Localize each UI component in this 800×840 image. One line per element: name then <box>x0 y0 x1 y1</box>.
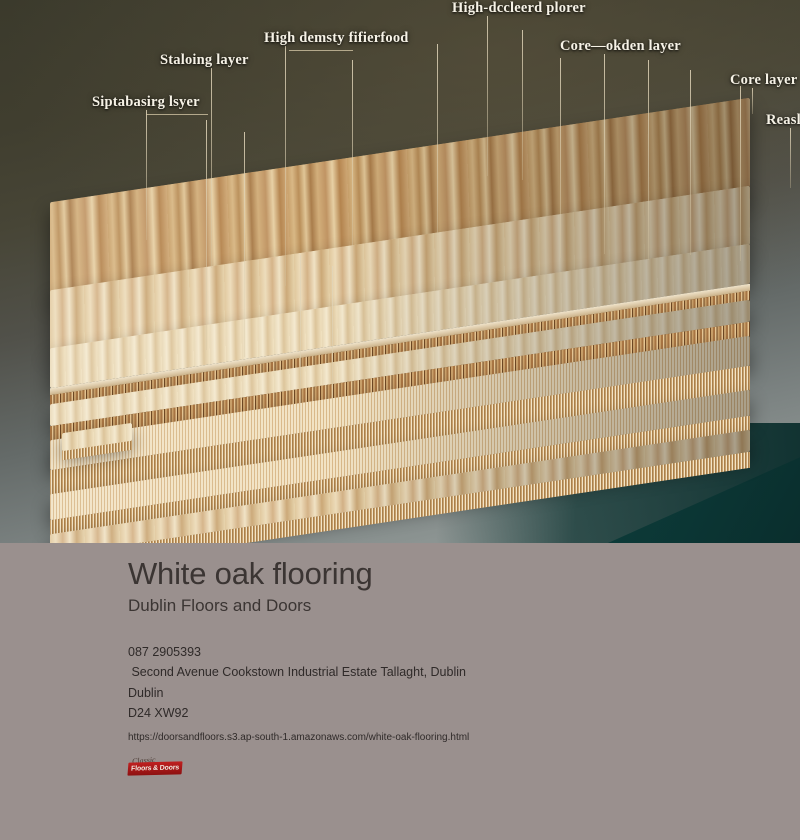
business-info-panel: White oak flooring Dublin Floors and Doo… <box>0 543 800 840</box>
leader-line-extra-9 <box>300 255 301 455</box>
business-url[interactable]: https://doorsandfloors.s3.ap-south-1.ama… <box>128 727 776 748</box>
leader-line-extra-6 <box>740 86 741 261</box>
leader-line-core-layer <box>752 88 753 114</box>
leader-line-extra-3 <box>560 58 561 258</box>
callout-label-decorated: High-dccleerd plorer <box>452 0 586 17</box>
leader-line-hdf <box>285 46 286 286</box>
callout-label-core-wooden: Core—okden layer <box>560 38 681 55</box>
logo-badge: Floors & Doors <box>127 761 182 775</box>
leader-line-stabilizing <box>211 68 212 268</box>
business-address-line-2: Dublin <box>128 683 776 703</box>
business-name: Dublin Floors and Doors <box>128 596 776 616</box>
business-address-line-1: Second Avenue Cookstown Industrial Estat… <box>128 662 776 682</box>
logo-badge-text: Floors & Doors <box>130 762 181 774</box>
leader-line-extra-4 <box>648 60 649 260</box>
callout-label-core-layer: Core layer <box>730 72 797 89</box>
callout-label-real-wood: Reasl v <box>766 112 800 129</box>
page-root: Siptabasirg lsyerStaloing layerHigh dems… <box>0 0 800 840</box>
leader-line-subbase <box>146 110 147 240</box>
callout-label-subbase: Siptabasirg lsyer <box>92 94 200 111</box>
page-title: White oak flooring <box>128 557 776 592</box>
leader-underline-subbase <box>146 114 208 115</box>
leader-line-extra-5 <box>690 70 691 255</box>
leader-line-extra-7 <box>206 120 207 350</box>
business-postcode: D24 XW92 <box>128 703 776 723</box>
callout-label-hdf: High demsty fifierfood <box>264 30 409 47</box>
leader-underline-hdf <box>289 50 353 51</box>
hero-product-image: Siptabasirg lsyerStaloing layerHigh dems… <box>0 0 800 543</box>
leader-line-decorated <box>487 16 488 176</box>
leader-line-real-wood <box>790 128 791 188</box>
leader-line-extra-1 <box>437 44 438 269</box>
business-phone[interactable]: 087 2905393 <box>128 642 776 662</box>
company-logo[interactable]: Classic Floors & Doors <box>128 758 184 778</box>
leader-line-core-wooden <box>604 54 605 254</box>
leader-line-extra-10 <box>332 266 333 451</box>
board-layer-7-backing <box>50 482 750 504</box>
callout-label-stabilizing: Staloing layer <box>160 52 249 69</box>
leader-line-extra-8 <box>244 132 245 357</box>
leader-line-extra-0 <box>352 60 353 265</box>
leader-line-extra-2 <box>522 30 523 180</box>
flooring-layer-stack <box>0 0 800 543</box>
